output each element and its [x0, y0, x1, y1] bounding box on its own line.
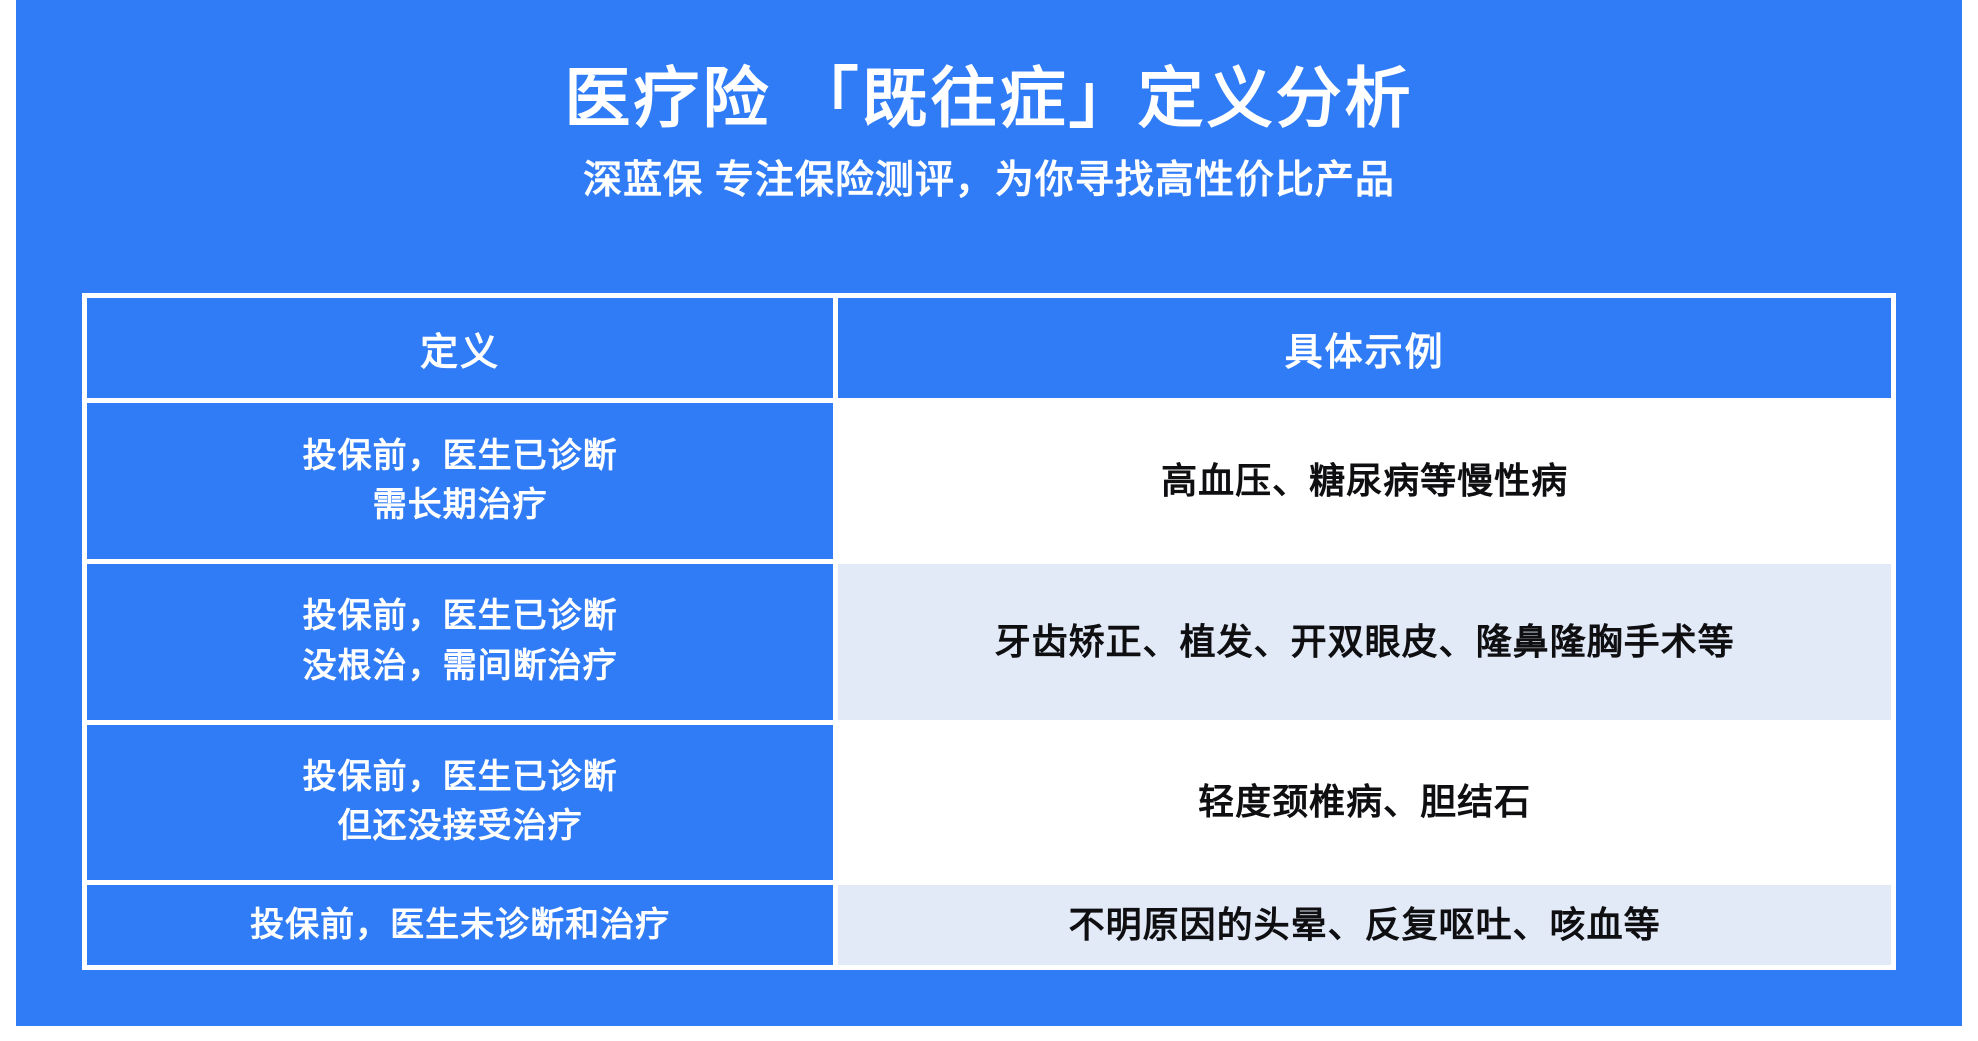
table-header-row: 定义 具体示例 — [87, 298, 1891, 401]
page-title: 医疗险 「既往症」定义分析 — [564, 62, 1413, 136]
cell-examples: 轻度颈椎病、胆结石 — [836, 722, 1891, 883]
definition-line-1: 投保前，医生已诊断 — [87, 592, 833, 641]
table-head: 定义 具体示例 — [87, 298, 1891, 401]
examples-text: 高血压、糖尿病等慢性病 — [1161, 460, 1568, 501]
definition-line-1: 投保前，医生已诊断 — [87, 432, 833, 481]
cell-examples: 高血压、糖尿病等慢性病 — [836, 401, 1891, 562]
page-subtitle: 深蓝保 专注保险测评，为你寻找高性价比产品 — [583, 158, 1395, 205]
examples-text: 轻度颈椎病、胆结石 — [1198, 781, 1531, 822]
examples-text: 不明原因的头晕、反复呕吐、咳血等 — [1069, 904, 1661, 945]
cell-examples: 牙齿矫正、植发、开双眼皮、隆鼻隆胸手术等 — [836, 561, 1891, 722]
cell-examples: 不明原因的头晕、反复呕吐、咳血等 — [836, 883, 1891, 965]
cell-definition: 投保前，医生已诊断 但还没接受治疗 — [87, 722, 836, 883]
table-body: 投保前，医生已诊断 需长期治疗 高血压、糖尿病等慢性病 投保前，医生已诊断 没根… — [87, 401, 1891, 966]
poster-root: 医疗险 「既往症」定义分析 深蓝保 专注保险测评，为你寻找高性价比产品 shen… — [0, 0, 1978, 1041]
cell-definition: 投保前，医生未诊断和治疗 — [87, 883, 836, 965]
definition-line-2: 但还没接受治疗 — [87, 802, 833, 851]
definition-line-1: 投保前，医生未诊断和治疗 — [87, 901, 833, 950]
definition-line-2: 需长期治疗 — [87, 481, 833, 530]
definition-line-2: 没根治，需间断治疗 — [87, 642, 833, 691]
cell-definition: 投保前，医生已诊断 没根治，需间断治疗 — [87, 561, 836, 722]
definition-table-wrapper: 定义 具体示例 投保前，医生已诊断 需长期治疗 高血压、糖尿病等慢性病 — [82, 293, 1896, 970]
definition-line-1: 投保前，医生已诊断 — [87, 753, 833, 802]
examples-text: 牙齿矫正、植发、开双眼皮、隆鼻隆胸手术等 — [995, 621, 1735, 662]
column-header-definition: 定义 — [87, 298, 836, 401]
column-header-examples: 具体示例 — [836, 298, 1891, 401]
table-row: 投保前，医生未诊断和治疗 不明原因的头晕、反复呕吐、咳血等 — [87, 883, 1891, 965]
table-row: 投保前，医生已诊断 没根治，需间断治疗 牙齿矫正、植发、开双眼皮、隆鼻隆胸手术等 — [87, 561, 1891, 722]
table-row: 投保前，医生已诊断 需长期治疗 高血压、糖尿病等慢性病 — [87, 401, 1891, 562]
cell-definition: 投保前，医生已诊断 需长期治疗 — [87, 401, 836, 562]
definition-table: 定义 具体示例 投保前，医生已诊断 需长期治疗 高血压、糖尿病等慢性病 — [87, 298, 1891, 965]
poster-header: 医疗险 「既往症」定义分析 深蓝保 专注保险测评，为你寻找高性价比产品 — [16, 0, 1962, 290]
table-row: 投保前，医生已诊断 但还没接受治疗 轻度颈椎病、胆结石 — [87, 722, 1891, 883]
